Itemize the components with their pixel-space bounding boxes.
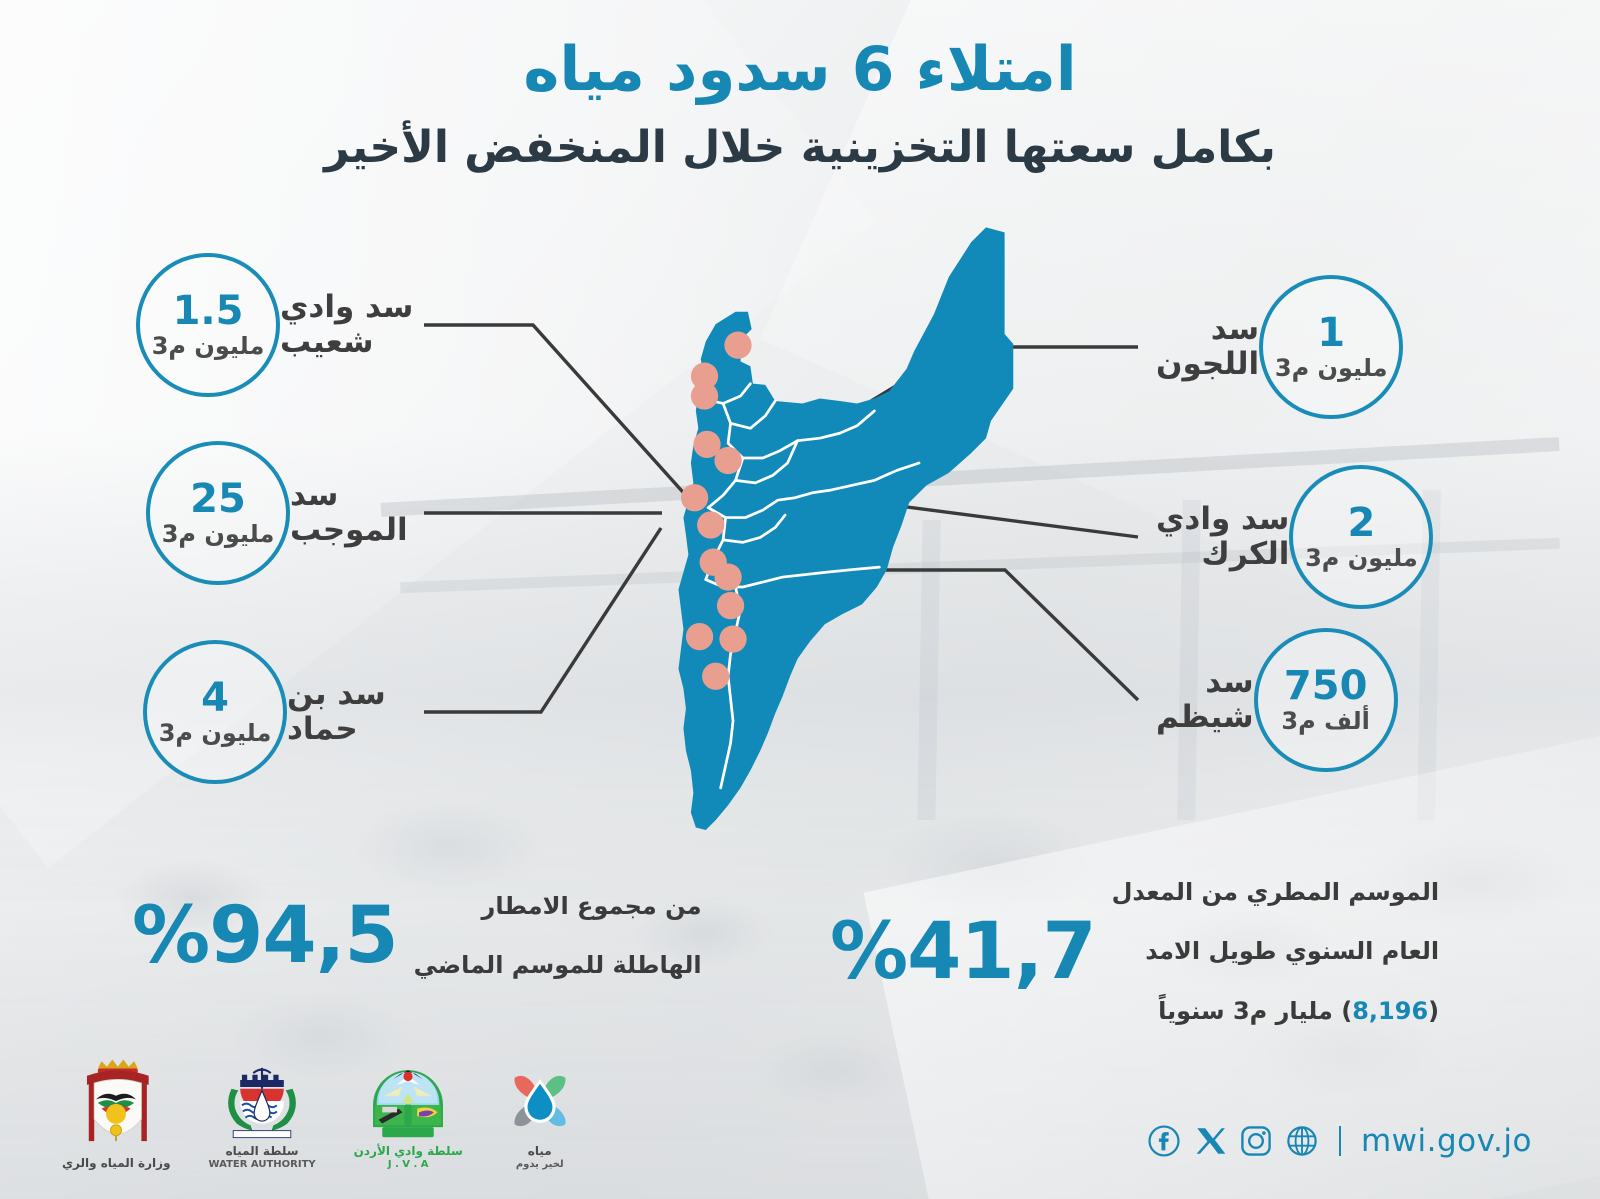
jordan-country-shape bbox=[678, 227, 1013, 830]
jordan-coat-of-arms-icon bbox=[70, 1054, 162, 1152]
stat-description: من مجموع الامطار الهاطلة للموسم الماضي bbox=[414, 862, 702, 1011]
stat-value: %94,5 bbox=[132, 897, 398, 975]
map-pin bbox=[717, 592, 744, 619]
dam-value-circle: 2 مليون م3 bbox=[1289, 465, 1433, 609]
header-block: امتلاء 6 سدود مياه بكامل سعتها التخزينية… bbox=[0, 38, 1600, 172]
dam-unit: مليون م3 bbox=[162, 522, 275, 547]
stat-description: الموسم المطري من المعدل العام السنوي طوي… bbox=[1112, 848, 1440, 1056]
ministry-of-water-and-irrigation-logo: وزارة المياه والري bbox=[62, 1054, 171, 1171]
stat-desc-line-2: العام السنوي طويل الامد bbox=[1112, 937, 1440, 967]
dam-label: سد الموجب bbox=[290, 478, 426, 547]
dam-label: سد وادي شعيب bbox=[280, 290, 431, 359]
map-pin bbox=[691, 382, 718, 409]
logo-subcaption: لخير يدوم bbox=[516, 1159, 564, 1171]
stat-desc-line-3: (8,196) مليار م3 سنوياً bbox=[1112, 997, 1440, 1027]
infographic-canvas: امتلاء 6 سدود مياه بكامل سعتها التخزينية… bbox=[0, 0, 1600, 1199]
dam-node-mujib[interactable]: سد الموجب 25 مليون م3 bbox=[146, 441, 426, 585]
dam-amount: 4 bbox=[201, 678, 229, 718]
jva-crest-icon bbox=[362, 1048, 454, 1140]
dam-label: سد اللجون bbox=[1138, 312, 1259, 381]
stat-desc-line-2: الهاطلة للموسم الماضي bbox=[414, 951, 702, 981]
map-pin bbox=[724, 332, 751, 359]
dam-node-shayzam[interactable]: 750 ألف م3 سد شيظم bbox=[1138, 628, 1398, 772]
water-authority-crest-icon bbox=[214, 1048, 310, 1140]
x-twitter-icon[interactable] bbox=[1193, 1124, 1227, 1158]
dam-unit: مليون م3 bbox=[1275, 356, 1388, 381]
dam-amount: 750 bbox=[1284, 666, 1368, 706]
logo-caption: سلطة المياه bbox=[226, 1144, 299, 1159]
stat-desc-paren-open: ( bbox=[1428, 997, 1439, 1025]
map-pin bbox=[686, 623, 713, 650]
map-pin bbox=[719, 625, 746, 652]
miyahuna-mark-icon bbox=[501, 1062, 579, 1140]
dam-unit: ألف م3 bbox=[1281, 709, 1369, 734]
page-subtitle: بكامل سعتها التخزينية خلال المنخفض الأخي… bbox=[0, 124, 1600, 172]
dam-amount: 1.5 bbox=[173, 291, 244, 331]
dam-label: سد وادي الكرك bbox=[1138, 502, 1289, 571]
logo-caption: سلطة وادي الأردن bbox=[354, 1144, 463, 1159]
facebook-icon[interactable] bbox=[1147, 1124, 1181, 1158]
stat-value: %41,7 bbox=[830, 913, 1096, 991]
dam-unit: مليون م3 bbox=[159, 721, 272, 746]
website-globe-icon[interactable] bbox=[1285, 1124, 1319, 1158]
dam-amount: 1 bbox=[1317, 313, 1345, 353]
stat-highlight-value: 8,196 bbox=[1352, 997, 1428, 1025]
stat-desc-line-1: الموسم المطري من المعدل bbox=[1112, 878, 1440, 908]
website-url[interactable]: mwi.gov.jo bbox=[1361, 1123, 1532, 1159]
dam-value-circle: 25 مليون م3 bbox=[146, 441, 290, 585]
jordan-map bbox=[520, 215, 1080, 835]
stat-rainfall-vs-long-term-average: الموسم المطري من المعدل العام السنوي طوي… bbox=[830, 848, 1439, 1056]
dam-node-bin-hammad[interactable]: سد بن حماد 4 مليون م3 bbox=[143, 640, 404, 784]
dam-value-circle: 750 ألف م3 bbox=[1254, 628, 1398, 772]
stat-desc-line-1: من مجموع الامطار bbox=[414, 892, 702, 922]
logo-caption: مياه bbox=[528, 1144, 552, 1159]
dam-label: سد شيظم bbox=[1138, 665, 1254, 734]
dam-value-circle: 4 مليون م3 bbox=[143, 640, 287, 784]
social-footer: mwi.gov.jo bbox=[1147, 1123, 1532, 1159]
stat-rainfall-vs-last-season: من مجموع الامطار الهاطلة للموسم الماضي %… bbox=[132, 862, 702, 1011]
dam-label: سد بن حماد bbox=[287, 677, 404, 746]
water-authority-logo: سلطة المياه WATER AUTHORITY bbox=[209, 1048, 316, 1171]
logo-subcaption: WATER AUTHORITY bbox=[209, 1159, 316, 1171]
dam-value-circle: 1 مليون م3 bbox=[1259, 275, 1403, 419]
partner-logos: مياه لخير يدوم سلطة bbox=[62, 1048, 579, 1171]
instagram-icon[interactable] bbox=[1239, 1124, 1273, 1158]
dam-amount: 2 bbox=[1347, 503, 1375, 543]
dam-unit: مليون م3 bbox=[1305, 546, 1418, 571]
dam-value-circle: 1.5 مليون م3 bbox=[136, 253, 280, 397]
map-pin bbox=[681, 484, 708, 511]
map-pin bbox=[697, 511, 724, 538]
jordan-valley-authority-logo: سلطة وادي الأردن J . V . A bbox=[354, 1048, 463, 1171]
map-pin bbox=[714, 563, 741, 590]
page-title: امتلاء 6 سدود مياه bbox=[0, 38, 1600, 102]
stat-desc-paren-close: ) مليار م3 سنوياً bbox=[1158, 997, 1352, 1025]
dam-node-wadi-karak[interactable]: 2 مليون م3 سد وادي الكرك bbox=[1138, 465, 1433, 609]
footer-divider bbox=[1339, 1126, 1341, 1156]
dam-unit: مليون م3 bbox=[152, 334, 265, 359]
map-pin bbox=[702, 663, 729, 690]
miyahuna-logo: مياه لخير يدوم bbox=[501, 1062, 579, 1171]
dam-node-wadi-shuayb[interactable]: سد وادي شعيب 1.5 مليون م3 bbox=[136, 253, 431, 397]
logo-caption: وزارة المياه والري bbox=[62, 1156, 171, 1171]
logo-subcaption: J . V . A bbox=[388, 1159, 429, 1171]
dam-node-lajjoun[interactable]: 1 مليون م3 سد اللجون bbox=[1138, 275, 1403, 419]
map-pin bbox=[714, 447, 741, 474]
dam-amount: 25 bbox=[190, 479, 246, 519]
